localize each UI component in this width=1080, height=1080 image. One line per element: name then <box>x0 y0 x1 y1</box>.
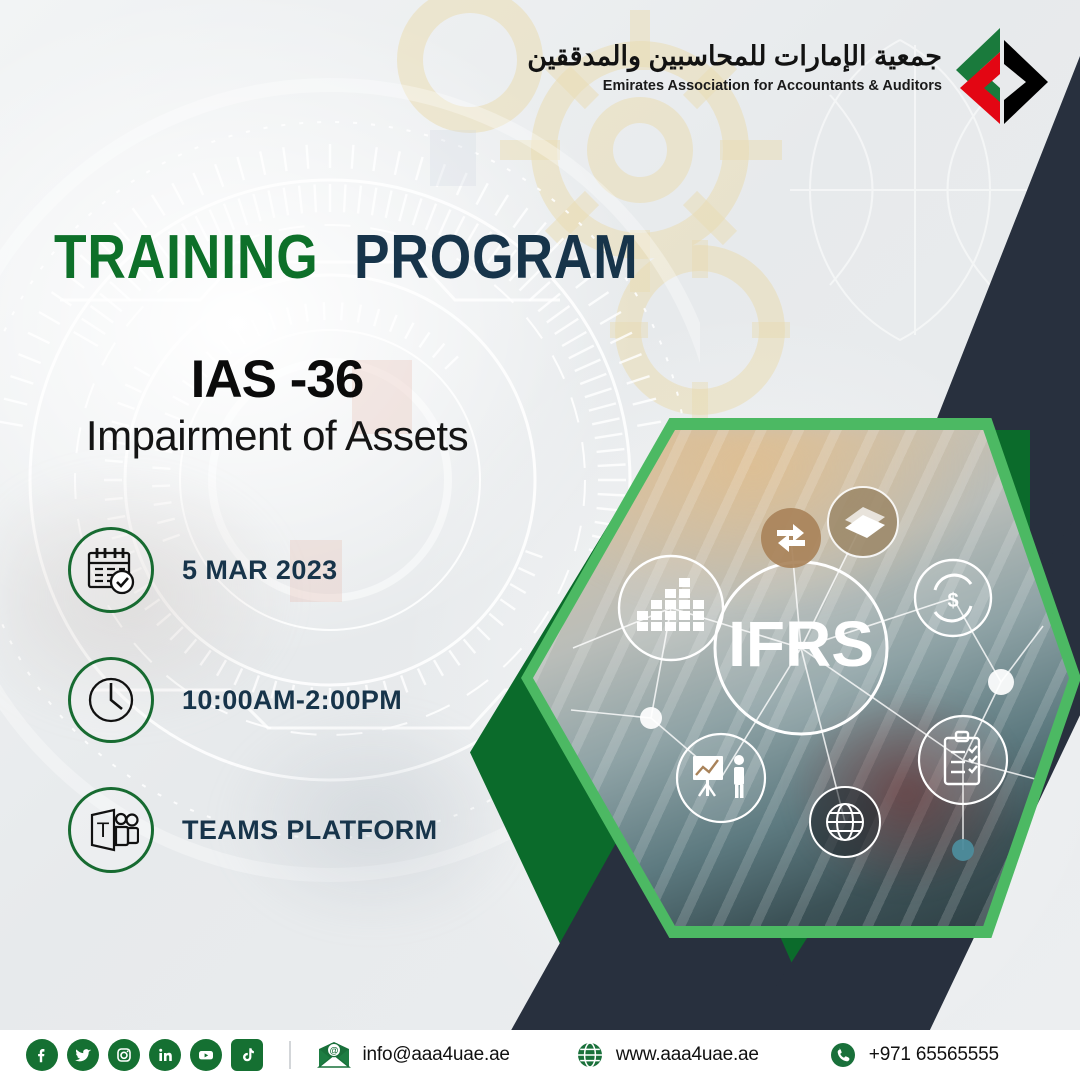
footer-email-text: info@aaa4uae.ae <box>363 1044 510 1066</box>
page-title: TRAINING PROGRAM <box>54 222 684 293</box>
detail-platform-text: TEAMS PLATFORM <box>182 815 438 846</box>
bar-chart-blocks-icon <box>619 556 723 660</box>
instagram-icon[interactable] <box>108 1039 140 1071</box>
footer-website-text: www.aaa4uae.ae <box>616 1044 759 1066</box>
twitter-icon[interactable] <box>67 1039 99 1071</box>
logo-arabic-name: جمعية الإمارات للمحاسبين والمدققين <box>527 40 942 72</box>
footer-phone[interactable]: +971 65565555 <box>829 1041 999 1069</box>
tiktok-icon[interactable] <box>231 1039 263 1071</box>
linkedin-icon[interactable] <box>149 1039 181 1071</box>
course-name: Impairment of Assets <box>62 412 492 460</box>
ifrs-hexagon-image: IFRS <box>521 418 1080 938</box>
detail-row-platform: T TEAMS PLATFORM <box>68 787 438 873</box>
phone-icon <box>829 1041 857 1069</box>
svg-text:@: @ <box>329 1046 338 1056</box>
detail-date-text: 5 MAR 2023 <box>182 555 338 586</box>
detail-time-text: 10:00AM-2:00PM <box>182 685 402 716</box>
money-refresh-icon: $ <box>915 560 991 636</box>
detail-row-time: 10:00AM-2:00PM <box>68 657 438 743</box>
footer-phone-text: +971 65565555 <box>869 1044 999 1066</box>
association-logo: جمعية الإمارات للمحاسبين والمدققين Emira… <box>527 26 1050 126</box>
teams-icon: T <box>68 787 154 873</box>
facebook-icon[interactable] <box>26 1039 58 1071</box>
social-links <box>26 1039 263 1071</box>
svg-text:T: T <box>97 819 110 842</box>
svg-text:$: $ <box>947 590 958 612</box>
ifrs-network-diagram: IFRS <box>533 430 1069 926</box>
footer-bar: @ info@aaa4uae.ae www.aaa4uae.ae <box>0 1030 1080 1080</box>
presentation-person-icon <box>677 734 765 822</box>
detail-row-date: 5 MAR 2023 <box>68 527 438 613</box>
clock-icon <box>68 657 154 743</box>
title-word-training: TRAINING <box>54 222 319 293</box>
hexagon-photo: IFRS <box>533 430 1069 926</box>
footer-email[interactable]: @ info@aaa4uae.ae <box>317 1042 510 1068</box>
youtube-icon[interactable] <box>190 1039 222 1071</box>
course-code: IAS -36 <box>62 352 492 408</box>
clipboard-checklist-icon <box>919 716 1007 804</box>
envelope-icon: @ <box>317 1042 351 1068</box>
ifrs-center-label: IFRS <box>728 608 874 680</box>
event-details-list: 5 MAR 2023 10:00AM-2:00PM T <box>68 527 438 873</box>
title-word-program: PROGRAM <box>354 222 638 293</box>
logo-english-name: Emirates Association for Accountants & A… <box>527 78 942 94</box>
footer-website[interactable]: www.aaa4uae.ae <box>576 1041 759 1069</box>
footer-divider-1 <box>289 1041 291 1069</box>
poster-canvas: IFRS <box>0 0 1080 1080</box>
globe-icon <box>576 1041 604 1069</box>
exchange-arrows-icon <box>761 508 821 568</box>
calendar-check-icon <box>68 527 154 613</box>
course-block: IAS -36 Impairment of Assets <box>62 352 492 460</box>
books-icon <box>828 487 898 557</box>
globe-icon <box>810 787 880 857</box>
chevron-logo-mark-icon <box>954 26 1050 126</box>
logo-text-block: جمعية الإمارات للمحاسبين والمدققين Emira… <box>527 26 942 94</box>
